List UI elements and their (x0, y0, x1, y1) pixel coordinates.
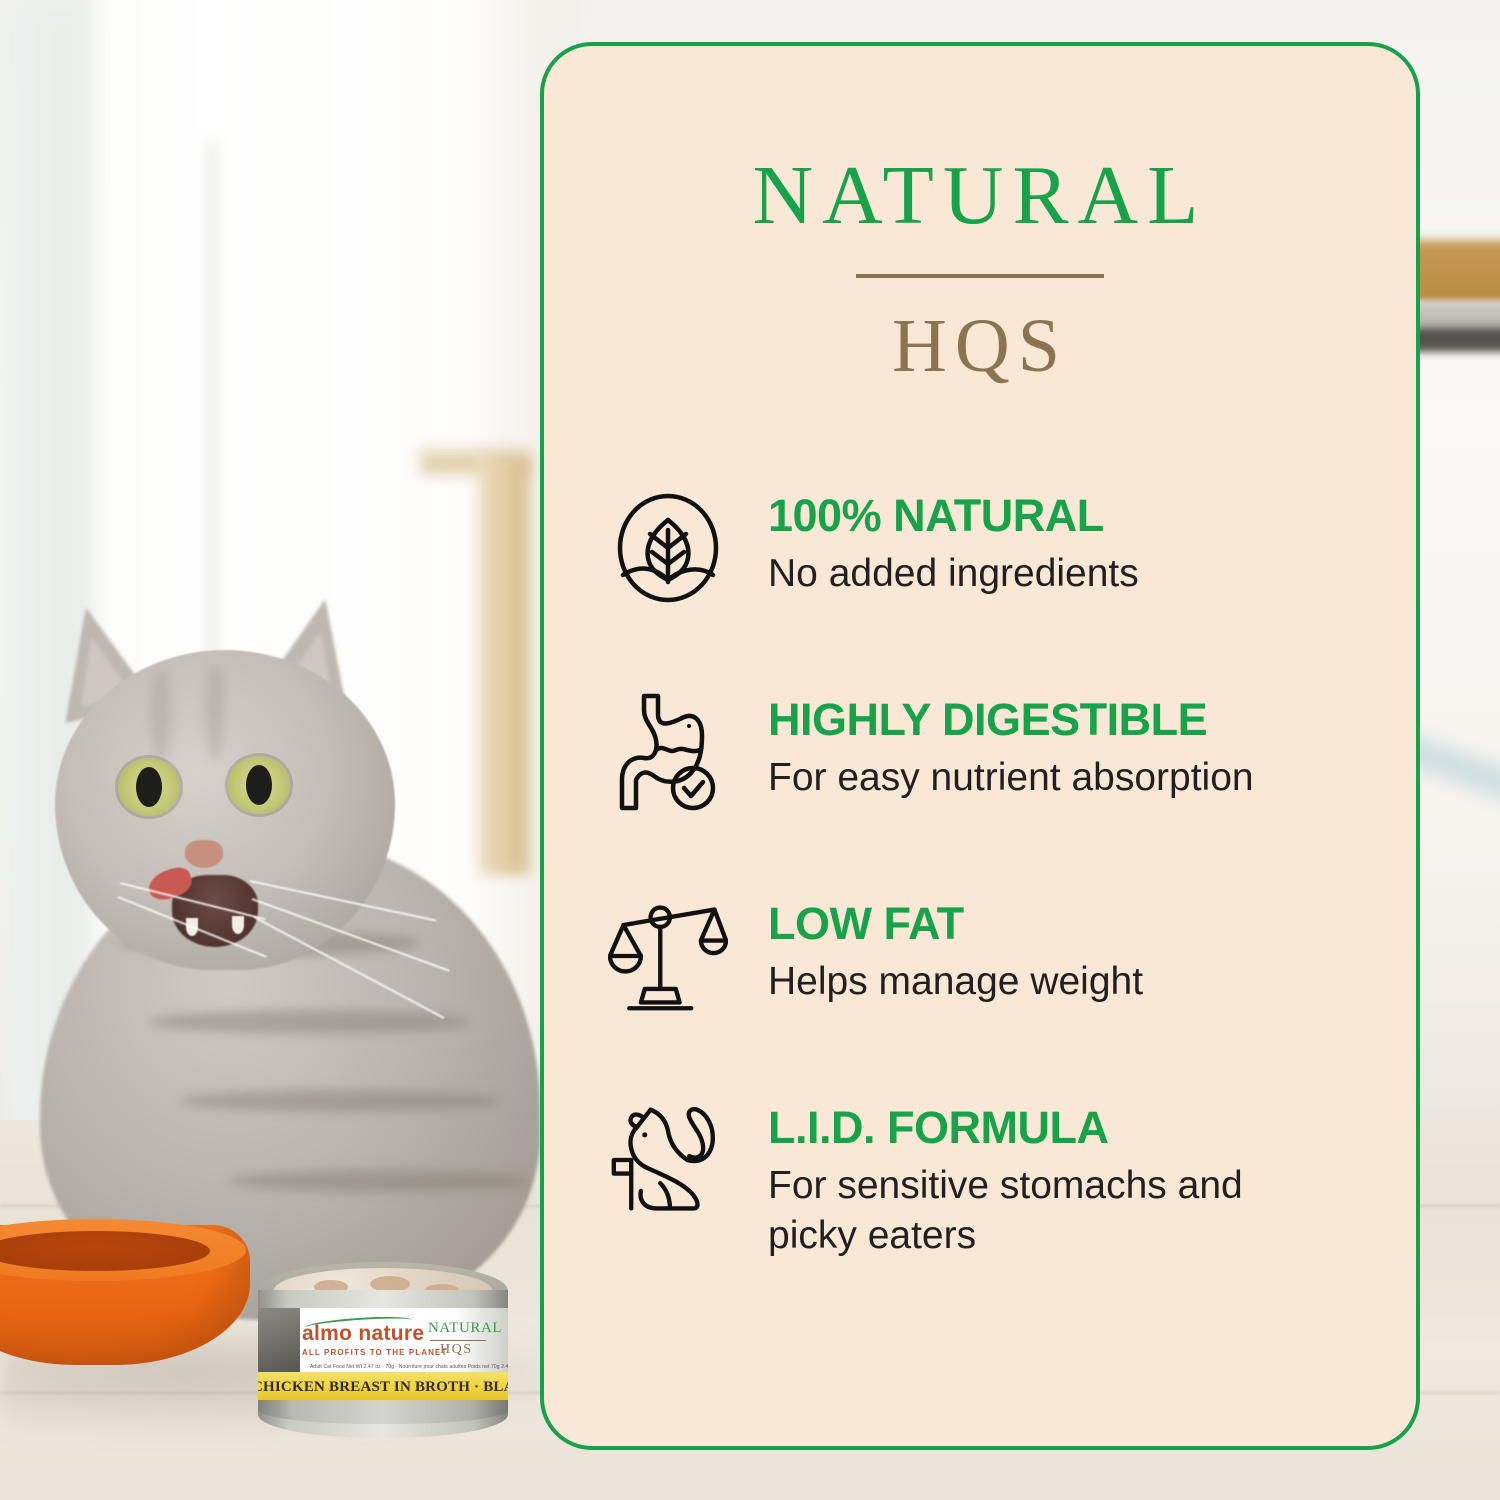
cat-tooth (232, 916, 244, 934)
can-cat-image (258, 1308, 300, 1374)
cat-pupil-left (136, 767, 162, 807)
feature-description: Helps manage weight (768, 957, 1143, 1007)
product-can: almo nature ALL PROFITS TO THE PLANET NA… (258, 1262, 508, 1462)
shelf-shadow (1408, 330, 1500, 352)
shelf-wood (1408, 240, 1500, 306)
can-flavor-text: CHICKEN BREAST IN BROTH · BLANC DE POULE… (258, 1379, 508, 1396)
feature-text: 100% NATURAL No added ingredients (768, 488, 1139, 599)
cat-nose (185, 840, 223, 868)
feature-item-low-fat: LOW FAT Helps manage weight (608, 896, 1360, 1016)
cat-stripe (230, 1170, 530, 1192)
feature-item-lid-formula: L.I.D. FORMULA For sensitive stomachs an… (608, 1100, 1360, 1261)
feature-text: HIGHLY DIGESTIBLE For easy nutrient abso… (768, 692, 1254, 803)
cat-forehead-stripe (150, 670, 172, 760)
product-feature-image: almo nature ALL PROFITS TO THE PLANET NA… (0, 0, 1500, 1500)
food-bowl (0, 1225, 250, 1365)
can-natural-text: NATURAL (428, 1320, 502, 1337)
brand-title: NATURAL (544, 154, 1416, 238)
feature-title: L.I.D. FORMULA (768, 1104, 1288, 1151)
feature-text: LOW FAT Helps manage weight (768, 896, 1143, 1007)
feature-card: NATURAL HQS (540, 42, 1420, 1450)
cat-stripe (150, 1010, 470, 1034)
can-flavor-band: CHICKEN BREAST IN BROTH · BLANC DE POULE… (258, 1372, 508, 1402)
can-fineprint: Adult Cat Food Net Wt 2.47 oz - 70g · No… (310, 1364, 508, 1370)
balance-scale-icon (608, 896, 728, 1016)
card-header: NATURAL HQS (544, 46, 1416, 384)
can-brand-name: almo nature (302, 1322, 424, 1346)
brand-divider (856, 274, 1104, 278)
feature-title: 100% NATURAL (768, 492, 1139, 539)
feature-description: For easy nutrient absorption (768, 753, 1254, 803)
feature-item-digestible: HIGHLY DIGESTIBLE For easy nutrient abso… (608, 692, 1360, 812)
feature-description: For sensitive stomachs and picky eaters (768, 1161, 1288, 1261)
feature-list: 100% NATURAL No added ingredients H (544, 488, 1416, 1261)
can-hqs-text: HQS (440, 1342, 473, 1358)
feature-title: LOW FAT (768, 900, 1143, 947)
leaf-in-circle-icon (608, 488, 728, 608)
feature-item-natural: 100% NATURAL No added ingredients (608, 488, 1360, 608)
cat-pupil-right (246, 765, 272, 805)
feature-description: No added ingredients (768, 549, 1139, 599)
brand-subtitle: HQS (544, 308, 1416, 384)
rail-highlight (1408, 700, 1500, 830)
can-divider (430, 1340, 486, 1341)
can-label: almo nature ALL PROFITS TO THE PLANET NA… (258, 1308, 508, 1404)
can-tagline: ALL PROFITS TO THE PLANET (302, 1348, 447, 1357)
feature-text: L.I.D. FORMULA For sensitive stomachs an… (768, 1100, 1288, 1261)
sitting-cat-icon (608, 1100, 728, 1220)
cat-stripe (180, 1090, 500, 1112)
stomach-check-icon (608, 692, 728, 812)
cat-photo (0, 590, 560, 1310)
feature-title: HIGHLY DIGESTIBLE (768, 696, 1254, 743)
cat-forehead-stripe (205, 664, 225, 758)
